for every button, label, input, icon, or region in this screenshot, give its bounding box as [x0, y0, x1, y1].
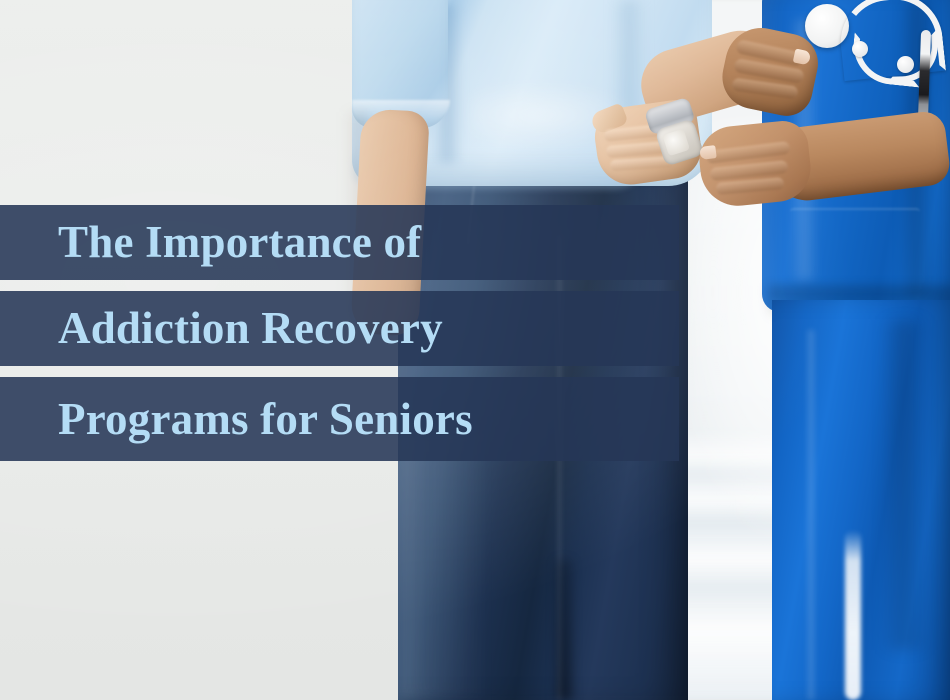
senior-trouser-highlight — [400, 430, 490, 700]
nurse-pants-fold — [880, 320, 930, 650]
page-title-line-3: Programs for Seniors — [58, 397, 473, 442]
hero-title-block: The Importance of Addiction Recovery Pro… — [0, 205, 679, 461]
title-bar-line-2: Addiction Recovery — [0, 291, 679, 366]
stethoscope-earpiece — [852, 41, 868, 57]
title-bar-line-1: The Importance of — [0, 205, 679, 280]
page-title-line-2: Addiction Recovery — [58, 306, 443, 351]
article-hero-banner: The Importance of Addiction Recovery Pro… — [0, 0, 950, 700]
page-title-line-1: The Importance of — [58, 220, 421, 265]
senior-leg-separation — [556, 560, 572, 700]
title-bar-line-3: Programs for Seniors — [0, 377, 679, 461]
stethoscope-earpiece — [897, 56, 914, 73]
nurse-leg-separation — [845, 530, 861, 700]
nurse-pants-crease — [806, 330, 816, 700]
nurse-fingernail — [699, 145, 716, 160]
